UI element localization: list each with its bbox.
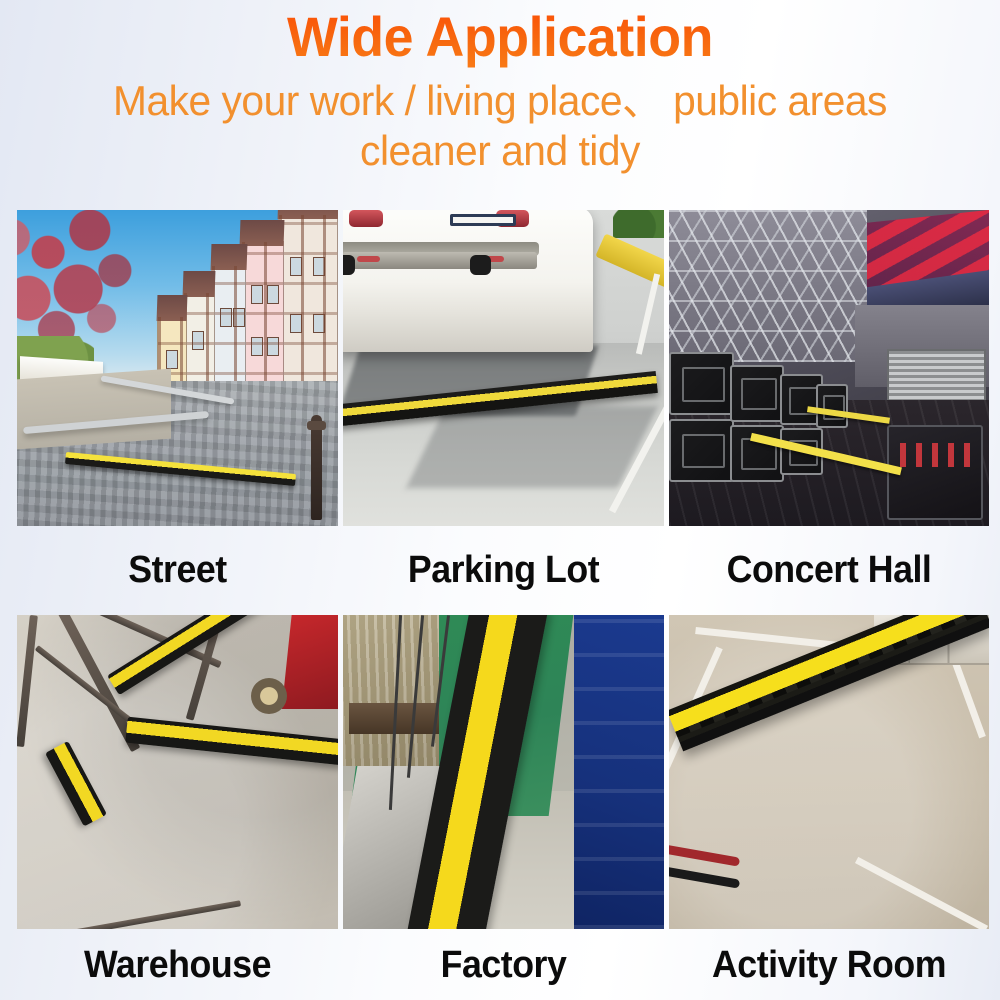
page-subtitle: Make your work / living place、 public ar… — [15, 76, 985, 176]
photo-activity-room — [669, 615, 989, 929]
gallery-item-concert-hall: Concert Hall — [669, 210, 989, 614]
header: Wide Application Make your work / living… — [0, 0, 1000, 176]
sidewalk — [17, 369, 171, 449]
application-gallery-grid: Street — [17, 210, 985, 614]
photo-street — [17, 210, 338, 526]
ground-shadow — [406, 406, 658, 488]
wheel-right — [470, 255, 491, 275]
application-gallery-grid-row2: Warehouse F — [17, 615, 985, 1000]
red-machine — [281, 615, 338, 709]
hedge — [613, 210, 664, 238]
gallery-item-factory: Factory — [343, 615, 664, 1000]
page-title: Wide Application — [20, 6, 980, 68]
gallery-item-activity-room: Activity Room — [669, 615, 989, 1000]
license-plate — [450, 214, 517, 226]
caption-parking-lot: Parking Lot — [353, 526, 655, 614]
photo-concert-hall — [669, 210, 989, 526]
gallery-item-warehouse: Warehouse — [17, 615, 338, 1000]
photo-warehouse — [17, 615, 338, 929]
wrapped-material-rolls — [343, 615, 439, 766]
caption-concert-hall: Concert Hall — [679, 526, 980, 614]
gallery-item-parking-lot: Parking Lot — [343, 210, 664, 614]
wide-application-infographic: Wide Application Make your work / living… — [0, 0, 1000, 1000]
photo-factory — [343, 615, 664, 929]
caption-factory: Factory — [353, 929, 655, 1000]
taillight-left — [349, 210, 382, 227]
caption-street: Street — [27, 526, 329, 614]
reflector-left — [357, 256, 380, 262]
subtitle-line-1: Make your work / living place、 public ar… — [15, 76, 985, 126]
scaffolding-truss — [669, 210, 867, 362]
blue-machinery — [574, 615, 664, 929]
machine-wheel — [251, 678, 287, 714]
white-suv — [343, 210, 593, 352]
bollard — [311, 415, 322, 519]
wheel-left — [343, 255, 355, 275]
caption-activity-room: Activity Room — [679, 929, 980, 1000]
photo-parking-lot — [343, 210, 664, 526]
flight-cases — [669, 349, 848, 507]
equipment-rack — [887, 425, 983, 520]
gallery-item-street: Street — [17, 210, 338, 614]
subtitle-line-2: cleaner and tidy — [15, 126, 985, 176]
caption-warehouse: Warehouse — [27, 929, 329, 1000]
